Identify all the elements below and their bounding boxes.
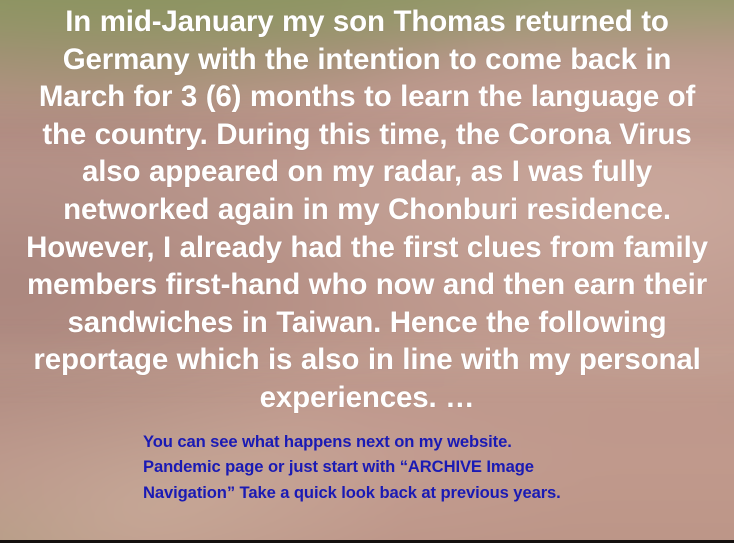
headline-line: sandwiches in Taiwan. Hence the followin… bbox=[8, 304, 726, 342]
headline-line: also appeared on my radar, as I was full… bbox=[8, 153, 726, 191]
headline-line: Germany with the intention to come back … bbox=[8, 41, 726, 79]
headline-line: March for 3 (6) months to learn the lang… bbox=[8, 78, 726, 116]
headline-line: experiences. … bbox=[8, 379, 726, 417]
headline-line: However, I already had the first clues f… bbox=[8, 229, 726, 267]
headline-line: the country. During this time, the Coron… bbox=[8, 116, 726, 154]
subnote-paragraph: You can see what happens next on my webs… bbox=[143, 429, 561, 505]
subnote-line: Pandemic page or just start with “ARCHIV… bbox=[143, 454, 561, 479]
slide-canvas: In mid-January my son Thomas returned to… bbox=[0, 0, 734, 543]
headline-paragraph: In mid-January my son Thomas returned to… bbox=[0, 3, 734, 417]
subnote-line: Navigation” Take a quick look back at pr… bbox=[143, 480, 561, 505]
subnote-line: You can see what happens next on my webs… bbox=[143, 429, 561, 454]
headline-line: networked again in my Chonburi residence… bbox=[8, 191, 726, 229]
headline-line: reportage which is also in line with my … bbox=[8, 341, 726, 379]
headline-line: In mid-January my son Thomas returned to bbox=[8, 3, 726, 41]
slide-content: In mid-January my son Thomas returned to… bbox=[0, 0, 734, 543]
headline-line: members first-hand who now and then earn… bbox=[8, 266, 726, 304]
